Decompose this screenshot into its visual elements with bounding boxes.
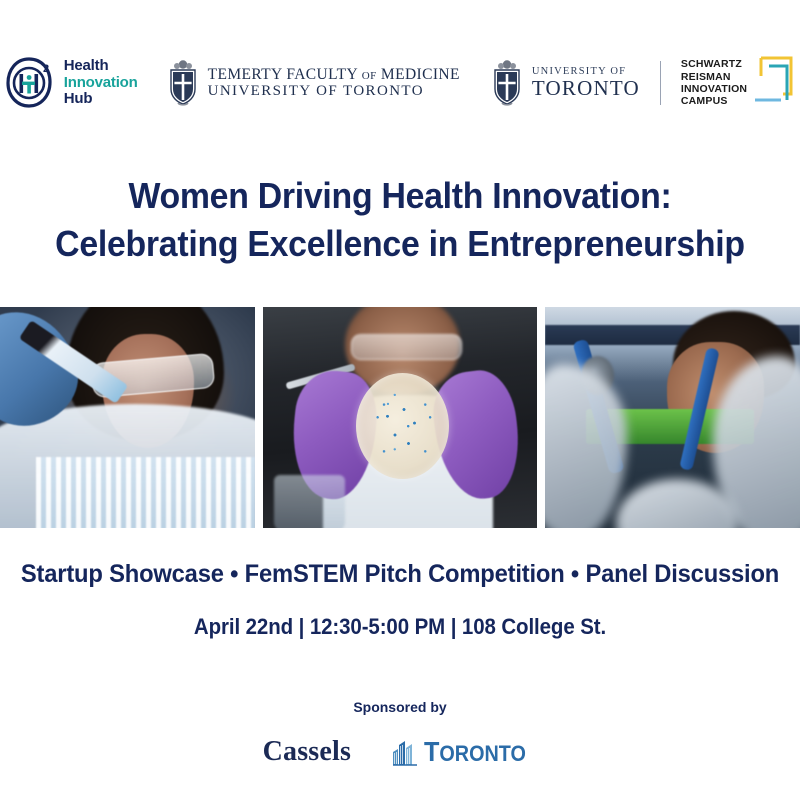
toronto-wordmark: TORONTO [424,736,526,768]
photo-strip [0,307,800,528]
h2-droplet-icon: 2 [3,55,55,111]
schwartz-reisman-lockup: SCHWARTZ REISMAN INNOVATION CAMPUS [681,54,797,112]
schwartz-reisman-wordmark: SCHWARTZ REISMAN INNOVATION CAMPUS [681,58,747,108]
photo2-safety-goggles [351,334,463,360]
sponsor-logo-row: Cassels TORONTO [0,736,800,768]
uoft-crest-icon [166,59,200,107]
svg-text:2: 2 [43,63,49,75]
logo-divider [660,61,661,105]
sri-line-2: REISMAN [681,71,747,83]
photo-petri-dish [263,307,537,528]
partner-logo-bar: 2 Health Innovation Hub [0,44,800,122]
poster-title: Women Driving Health Innovation: Celebra… [24,172,776,267]
photo-engineer-equipment [545,307,800,528]
program-line: Startup Showcase • FemSTEM Pitch Competi… [20,560,780,589]
temerty-line-1: TEMERTY FACULTY OF MEDICINE [208,67,460,84]
sri-line-1: SCHWARTZ [681,58,747,70]
temerty-line-2: UNIVERSITY OF TORONTO [208,83,460,99]
photo-researcher-pipetting [0,307,255,528]
uoft-line-2: TORONTO [532,77,640,100]
uoft-crest-icon-2 [490,59,524,107]
uoft-schwartz-reisman-logo: UNIVERSITY OF TORONTO SCHWARTZ REISMAN I… [490,54,797,112]
health-innovation-hub-logo: 2 Health Innovation Hub [3,55,138,111]
event-details-line: April 22nd | 12:30-5:00 PM | 108 College… [28,614,772,640]
sri-line-3: INNOVATION [681,83,747,95]
temerty-wordmark: TEMERTY FACULTY OF MEDICINE UNIVERSITY O… [208,67,460,100]
event-poster: 2 Health Innovation Hub [0,0,800,800]
cassels-logo: Cassels [263,736,352,768]
city-of-toronto-logo: TORONTO [391,736,537,768]
title-line-2: Celebrating Excellence in Entrepreneursh… [24,220,776,268]
uoft-wordmark: UNIVERSITY OF TORONTO [532,66,640,100]
hih-line-hub: Hub [64,91,138,108]
hih-line-innovation: Innovation [64,75,138,92]
sri-line-4: CAMPUS [681,95,747,107]
temerty-faculty-of-medicine-logo: TEMERTY FACULTY OF MEDICINE UNIVERSITY O… [166,59,460,107]
sponsored-by-heading: Sponsored by [0,699,800,715]
title-line-1: Women Driving Health Innovation: [24,172,776,220]
photo2-beaker [274,475,345,528]
health-innovation-hub-wordmark: Health Innovation Hub [64,58,138,108]
photo2-petri-dish [356,373,449,479]
toronto-towers-icon [391,738,419,766]
schwartz-reisman-mark-icon [751,54,797,112]
hih-line-health: Health [64,58,138,75]
photo1-test-tube-rack [36,457,255,528]
